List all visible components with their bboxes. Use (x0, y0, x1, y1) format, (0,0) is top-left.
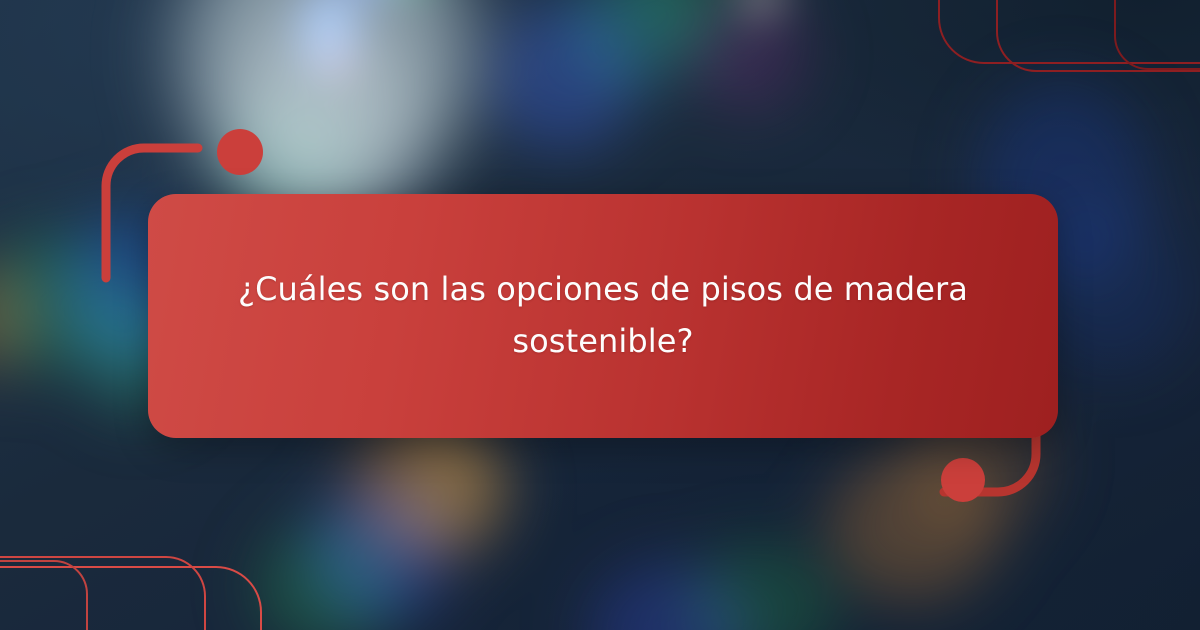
question-title: ¿Cuáles son las opciones de pisos de mad… (223, 264, 983, 368)
question-card[interactable]: ¿Cuáles son las opciones de pisos de mad… (148, 194, 1058, 438)
accent-dot-bottom-right (941, 458, 985, 502)
social-card-canvas: ¿Cuáles son las opciones de pisos de mad… (0, 0, 1200, 630)
accent-dot-top-left (217, 129, 263, 175)
